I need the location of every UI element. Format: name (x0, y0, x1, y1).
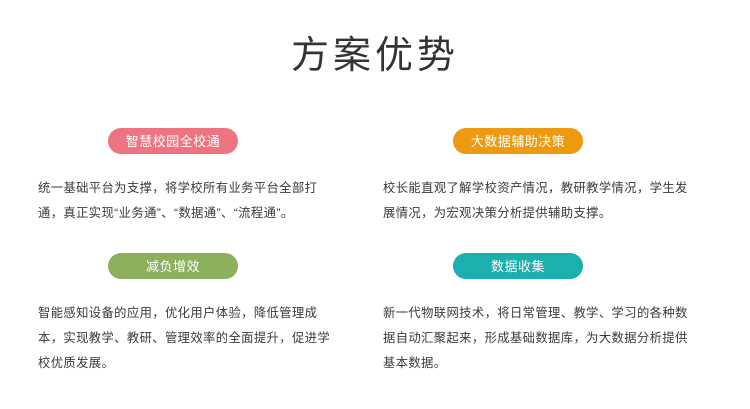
badge-row-1: 智慧校园全校通 (38, 120, 368, 162)
advantage-description-4: 新一代物联网技术，将日常管理、教学、学习的各种数据自动汇聚起来，形成基础数据库，… (383, 301, 688, 376)
badge-row-2: 大数据辅助决策 (383, 120, 713, 162)
slide-canvas: 方案优势 智慧校园全校通 统一基础平台为支撑，将学校所有业务平台全部打通，真正实… (0, 0, 750, 409)
badge-big-data-decision[interactable]: 大数据辅助决策 (453, 128, 583, 154)
badge-smart-campus[interactable]: 智慧校园全校通 (108, 128, 238, 154)
advantage-card-4: 数据收集 新一代物联网技术，将日常管理、教学、学习的各种数据自动汇聚起来，形成基… (383, 245, 713, 376)
badge-row-4: 数据收集 (383, 245, 713, 287)
advantage-description-1: 统一基础平台为支撑，将学校所有业务平台全部打通，真正实现“业务通”、“数据通”、… (38, 176, 338, 226)
badge-row-3: 减负增效 (38, 245, 368, 287)
advantage-card-1: 智慧校园全校通 统一基础平台为支撑，将学校所有业务平台全部打通，真正实现“业务通… (38, 120, 368, 226)
page-title: 方案优势 (0, 33, 750, 79)
badge-reduce-burden[interactable]: 减负增效 (108, 253, 238, 279)
advantage-card-2: 大数据辅助决策 校长能直观了解学校资产情况，教研教学情况，学生发展情况，为宏观决… (383, 120, 713, 226)
advantage-description-2: 校长能直观了解学校资产情况，教研教学情况，学生发展情况，为宏观决策分析提供辅助支… (383, 176, 688, 226)
badge-data-collection[interactable]: 数据收集 (453, 253, 583, 279)
advantages-grid: 智慧校园全校通 统一基础平台为支撑，将学校所有业务平台全部打通，真正实现“业务通… (0, 120, 750, 390)
advantage-card-3: 减负增效 智能感知设备的应用，优化用户体验，降低管理成本，实现教学、教研、管理效… (38, 245, 368, 376)
advantage-description-3: 智能感知设备的应用，优化用户体验，降低管理成本，实现教学、教研、管理效率的全面提… (38, 301, 338, 376)
